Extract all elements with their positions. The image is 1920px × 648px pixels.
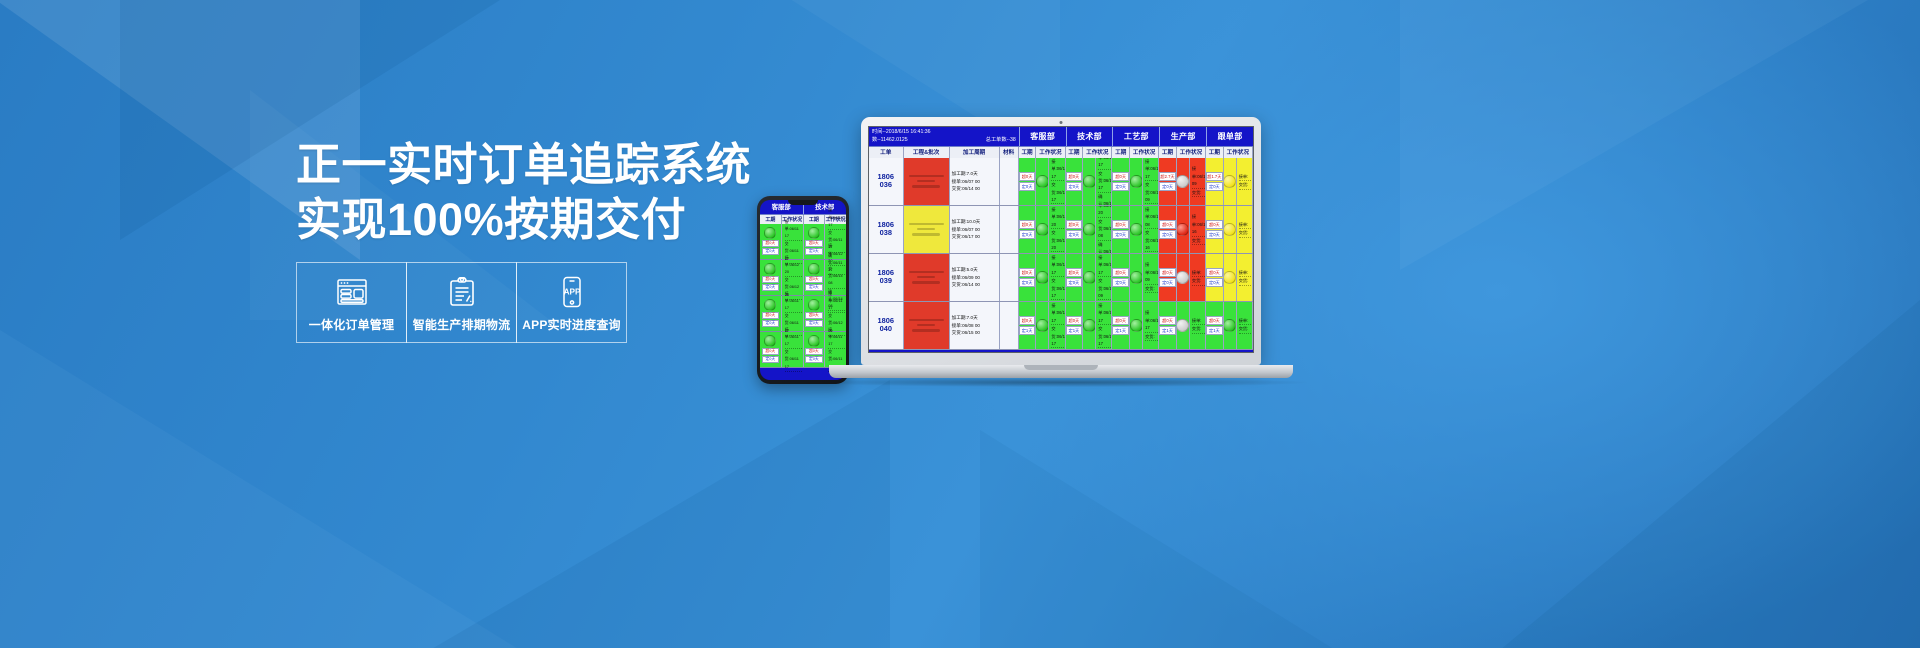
- planned-badge: 定1天: [1206, 326, 1223, 335]
- status-cell[interactable]: [1224, 302, 1237, 349]
- duration-cell: 超0天定1天: [1066, 302, 1084, 349]
- status-indicator-green: [1036, 271, 1049, 284]
- feature-item-production-schedule[interactable]: 智能生产排期物流: [406, 262, 517, 343]
- planned-badge: 定0天: [805, 320, 822, 327]
- column-header: 工期: [1159, 147, 1177, 158]
- processing-cycle-cell: 加工期:10.0天接单:06/07 00交货:06/17 00: [950, 206, 1000, 253]
- status-detail-cell: 接单:06/12 20交货:06/12 20: [1049, 206, 1065, 253]
- planned-badge: 定0天: [762, 320, 779, 327]
- status-cell[interactable]: [1177, 158, 1190, 205]
- phone-detail-cell: 接单:06/11 17交货:06/11 17: [781, 296, 803, 331]
- status-detail-cell: 接单:06/14 08交货:06/15 16: [1143, 206, 1159, 253]
- status-cell[interactable]: [1036, 206, 1049, 253]
- column-header: 工单: [869, 147, 904, 158]
- meta-total: 总工单数--38: [986, 137, 1016, 145]
- background-facet: [1500, 300, 1920, 648]
- department-header: 工艺部: [1112, 127, 1159, 146]
- material-cell: [1000, 206, 1019, 253]
- phone-col-duration: 工期: [803, 215, 825, 224]
- status-cell[interactable]: [1083, 158, 1096, 205]
- status-cell[interactable]: [1224, 206, 1237, 253]
- status-cell[interactable]: [1036, 158, 1049, 205]
- duration-cell: 超0天定0天: [1112, 254, 1130, 301]
- duration-cell: 超0天定0天: [1159, 206, 1177, 253]
- status-detail-cell: 接单:交货:: [1190, 302, 1206, 349]
- phone-detail-cell: 接单:06/12 20交货:06/12 20: [781, 260, 803, 295]
- dashboard-header: 时间--2018/6/15 16:41:36 数--11462.0125 总工单…: [869, 127, 1253, 146]
- overdue-badge: 超0天: [1019, 268, 1036, 277]
- laptop-mockup: 时间--2018/6/15 16:41:36 数--11462.0125 总工单…: [861, 117, 1325, 421]
- duration-cell: 超2.7天定0天: [1159, 158, 1177, 205]
- status-indicator-yellow: [1224, 175, 1237, 188]
- customer-project-cell: [904, 206, 950, 253]
- laptop-shadow: [815, 378, 1307, 387]
- laptop-screen[interactable]: 时间--2018/6/15 16:41:36 数--11462.0125 总工单…: [868, 126, 1254, 353]
- overdue-badge: 超0天: [1066, 220, 1083, 229]
- status-detail-cell: 接单:06/12 09交货:: [1190, 158, 1206, 205]
- processing-cycle-cell: 加工期:7.0天接单:06/08 00交货:06/15 00: [950, 302, 1000, 349]
- phone-col-duration: 工期: [760, 215, 781, 224]
- status-detail-cell: 接单:06/11 17交货:06/12 09: [1143, 158, 1159, 205]
- status-indicator-grey: [1177, 175, 1190, 188]
- overdue-badge: 超0天: [1112, 220, 1129, 229]
- duration-cell: 超0天定0天: [1206, 206, 1224, 253]
- planned-badge: 定0天: [805, 284, 822, 291]
- phone-status-cell[interactable]: 超0天定0天: [760, 260, 781, 295]
- table-row[interactable]: 1806036加工期:7.0天接单:06/07 00交货:06/14 00超0天…: [869, 158, 1253, 206]
- list-item[interactable]: 超0天定0天接单:06/11 17交货:06/11 17超0天定0天接单:06/…: [760, 332, 846, 368]
- planned-badge: 定0天: [805, 356, 822, 363]
- mobile-app-icon: APP: [560, 275, 584, 309]
- planned-badge: 定0天: [762, 284, 779, 291]
- overdue-badge: 超0天: [1159, 268, 1176, 277]
- status-indicator-green: [764, 299, 776, 311]
- planned-badge: 定0天: [1019, 182, 1036, 191]
- department-header: 技术部: [1066, 127, 1113, 146]
- feature-item-app-progress[interactable]: APP APP实时进度查询: [516, 262, 627, 343]
- status-cell[interactable]: [1177, 302, 1190, 349]
- status-indicator-green: [1036, 175, 1049, 188]
- column-header: 工期: [1066, 147, 1084, 158]
- planned-badge: 定0天: [1206, 230, 1223, 239]
- customer-project-cell: [904, 254, 950, 301]
- status-indicator-green: [1036, 223, 1049, 236]
- column-header: 材料: [1000, 147, 1019, 158]
- feature-item-order-management[interactable]: 一体化订单管理: [296, 262, 407, 343]
- status-detail-cell: 接单:交货:: [1237, 302, 1253, 349]
- customer-project-cell: [904, 302, 950, 349]
- status-indicator-green: [1224, 319, 1237, 332]
- overdue-badge: 超0天: [1112, 172, 1129, 181]
- planned-badge: 定0天: [1019, 278, 1036, 287]
- duration-cell: 超0天定0天: [1019, 254, 1037, 301]
- duration-cell: 超0天定1天: [1112, 302, 1130, 349]
- planned-badge: 定0天: [805, 248, 822, 255]
- overdue-badge: 超0天: [762, 240, 779, 247]
- status-cell[interactable]: [1130, 206, 1143, 253]
- status-detail-cell: 接单:06/15 16交货:: [1190, 206, 1206, 253]
- overdue-badge: 超0天: [1159, 316, 1176, 325]
- status-indicator-red: [1177, 223, 1190, 236]
- status-indicator-grey: [1177, 319, 1190, 332]
- overdue-badge: 超0天: [805, 348, 822, 355]
- planned-badge: 定0天: [1159, 230, 1176, 239]
- phone-table-body: 超0天定0天接单:06/11 17交货:06/11 17超0天定0天接单:06/…: [760, 224, 846, 368]
- planned-badge: 定0天: [762, 248, 779, 255]
- column-header: 工作状况: [1177, 147, 1206, 158]
- status-indicator-green: [1083, 271, 1096, 284]
- duration-cell: 超0天定0天: [1159, 254, 1177, 301]
- feature-label: 智能生产排期物流: [413, 316, 511, 333]
- status-indicator-green: [1130, 319, 1143, 332]
- order-number-cell: 1806038: [869, 206, 904, 253]
- planned-badge: 定0天: [762, 356, 779, 363]
- column-header: 工程&批次: [904, 147, 950, 158]
- material-cell: [1000, 254, 1019, 301]
- overdue-badge: 超0天: [1066, 316, 1083, 325]
- overdue-badge: 超0天: [805, 276, 822, 283]
- overdue-badge: 超0天: [1159, 220, 1176, 229]
- status-indicator-green: [1083, 175, 1096, 188]
- duration-cell: 超0天定0天: [1019, 206, 1037, 253]
- planned-badge: 定0天: [1066, 182, 1083, 191]
- status-detail-cell: 接单:06/11 17交货:06/11 17: [1096, 302, 1112, 349]
- planned-badge: 定0天: [1019, 230, 1036, 239]
- status-detail-cell: 接单:交货:: [1190, 254, 1206, 301]
- phone-status-cell[interactable]: 超0天定0天: [803, 332, 825, 367]
- planned-badge: 定1天: [1066, 326, 1083, 335]
- status-detail-cell: 接单:06/12 20交货:06/14 08确认:06/14 08: [1096, 206, 1112, 253]
- column-header: 工作状况: [1083, 147, 1112, 158]
- status-detail-cell: 接单:06/11 17交货:: [1143, 302, 1159, 349]
- overdue-badge: 超2.7天: [1159, 172, 1176, 181]
- status-cell[interactable]: [1130, 302, 1143, 349]
- status-indicator-green: [764, 227, 776, 239]
- feature-label: APP实时进度查询: [522, 316, 620, 333]
- clipboard-schedule-icon: [448, 275, 476, 309]
- status-cell[interactable]: [1177, 254, 1190, 301]
- phone-detail-cell: 接单:06/12 20交货:06/14 08确认:06/14 08: [824, 260, 846, 295]
- phone-status-cell[interactable]: 超0天定0天: [803, 224, 825, 259]
- duration-cell: 超0天定1天: [1206, 302, 1224, 349]
- column-header: 工作状况: [1130, 147, 1159, 158]
- duration-cell: 超0天定0天: [1206, 254, 1224, 301]
- processing-cycle-cell: 加工期:7.0天接单:06/07 00交货:06/14 00: [950, 158, 1000, 205]
- column-header: 工期: [1019, 147, 1037, 158]
- processing-cycle-cell: 加工期:5.0天接单:06/09 00交货:06/14 00: [950, 254, 1000, 301]
- status-detail-cell: 接单:06/11 17交货:06/12 09: [1096, 254, 1112, 301]
- status-indicator-green: [1083, 319, 1096, 332]
- material-cell: [1000, 158, 1019, 205]
- column-header: 工作状况: [1036, 147, 1065, 158]
- status-cell[interactable]: [1130, 254, 1143, 301]
- status-detail-cell: 接单:06/11 17交货:06/11 17: [1049, 254, 1065, 301]
- table-row[interactable]: 1806038加工期:10.0天接单:06/07 00交货:06/17 00超0…: [869, 206, 1253, 254]
- status-indicator-green: [808, 335, 820, 347]
- planned-badge: 定0天: [1112, 182, 1129, 191]
- status-cell[interactable]: [1083, 254, 1096, 301]
- phone-body: 客服部 技术部 工期 工作状况 工期 工作状况 超0天定0天接单:06/11 1…: [757, 196, 849, 384]
- status-indicator-green: [1036, 319, 1049, 332]
- status-cell[interactable]: [1083, 302, 1096, 349]
- planned-badge: 定1天: [1159, 326, 1176, 335]
- duration-cell: 超0天定0天: [1066, 206, 1084, 253]
- planned-badge: 定0天: [1112, 230, 1129, 239]
- overdue-badge: 超0天: [1019, 316, 1036, 325]
- column-header-row: 工单工程&批次加工周期材料工期工作状况工期工作状况工期工作状况工期工作状况工期工…: [869, 146, 1253, 158]
- phone-detail-cell: 接单:06/11 17交货:06/11 17: [781, 224, 803, 259]
- duration-cell: 超0天定1天: [1159, 302, 1177, 349]
- phone-detail-cell: 接单:06/11 17交货:06/11 17: [824, 332, 846, 367]
- duration-cell: 超0天定0天: [1019, 158, 1037, 205]
- status-detail-cell: 接单:交货:: [1237, 254, 1253, 301]
- overdue-badge: 超0天: [1206, 316, 1223, 325]
- laptop-lid: 时间--2018/6/15 16:41:36 数--11462.0125 总工单…: [861, 117, 1261, 365]
- overdue-badge: 超0天: [805, 240, 822, 247]
- phone-detail-cell: 接单:06/11 17交货:06/12 09: [824, 296, 846, 331]
- department-header: 生产部: [1159, 127, 1206, 146]
- planned-badge: 定1天: [1112, 326, 1129, 335]
- hero-banner: 正一实时订单追踪系统 实现100%按期交付 一体化订单管理: [0, 0, 1920, 648]
- phone-status-cell[interactable]: 超0天定0天: [760, 296, 781, 331]
- status-cell[interactable]: [1130, 158, 1143, 205]
- planned-badge: 定0天: [1159, 278, 1176, 287]
- status-detail-cell: 接单:交货:: [1237, 206, 1253, 253]
- app-badge-text: APP: [563, 288, 580, 297]
- department-header-row: 客服部技术部工艺部生产部跟单部: [1019, 127, 1253, 146]
- status-indicator-green: [1130, 223, 1143, 236]
- table-row[interactable]: 1806040加工期:7.0天接单:06/08 00交货:06/15 00超0天…: [869, 302, 1253, 350]
- status-indicator-green: [764, 335, 776, 347]
- status-indicator-yellow: [1224, 271, 1237, 284]
- status-cell[interactable]: [1036, 302, 1049, 349]
- status-cell[interactable]: [1083, 206, 1096, 253]
- duration-cell: 超0天定0天: [1066, 158, 1084, 205]
- feature-list: 一体化订单管理 智能生产排期物流: [296, 262, 627, 343]
- column-header: 工期: [1112, 147, 1130, 158]
- overdue-badge: 超0天: [1019, 220, 1036, 229]
- status-detail-cell: 接单:06/11 17交货:06/11 17: [1049, 302, 1065, 349]
- status-cell[interactable]: [1224, 158, 1237, 205]
- order-tracking-dashboard: 时间--2018/6/15 16:41:36 数--11462.0125 总工单…: [869, 127, 1253, 352]
- phone-notch: [788, 200, 818, 205]
- status-indicator-grey: [1177, 271, 1190, 284]
- planned-badge: 定0天: [1112, 278, 1129, 287]
- table-row[interactable]: 1806039加工期:5.0天接单:06/09 00交货:06/14 00超0天…: [869, 254, 1253, 302]
- meta-count: 数--11462.0125: [872, 137, 908, 145]
- duration-cell: 超0天定1天: [1019, 302, 1037, 349]
- dashboard-table-body: 1806036加工期:7.0天接单:06/07 00交货:06/14 00超0天…: [869, 158, 1253, 350]
- overdue-badge: 超0天: [1112, 316, 1129, 325]
- status-indicator-green: [764, 263, 776, 275]
- department-header: 跟单部: [1206, 127, 1253, 146]
- phone-detail-cell: 接单:06/11 17交货:06/11 17: [781, 332, 803, 367]
- planned-badge: 定0天: [1159, 182, 1176, 191]
- status-cell[interactable]: [1036, 254, 1049, 301]
- overdue-badge: 超0天: [1206, 268, 1223, 277]
- column-header: 工作状况: [1224, 147, 1253, 158]
- laptop-base: [829, 365, 1293, 378]
- planned-badge: 定0天: [1066, 278, 1083, 287]
- overdue-badge: 超0天: [1066, 172, 1083, 181]
- phone-status-cell[interactable]: 超0天定0天: [803, 296, 825, 331]
- overdue-badge: 超0天: [1112, 268, 1129, 277]
- background-facet: [980, 430, 1400, 648]
- status-detail-cell: 接单:06/12 09交货:: [1143, 254, 1159, 301]
- order-number-cell: 1806036: [869, 158, 904, 205]
- status-indicator-green: [808, 299, 820, 311]
- department-header: 客服部: [1019, 127, 1066, 146]
- phone-status-cell[interactable]: 超0天定0天: [760, 332, 781, 367]
- overdue-badge: 超0天: [805, 312, 822, 319]
- material-cell: [1000, 302, 1019, 349]
- feature-label: 一体化订单管理: [309, 316, 394, 333]
- overdue-badge: 超0天: [1066, 268, 1083, 277]
- order-number-cell: 1806039: [869, 254, 904, 301]
- customer-project-cell: [904, 158, 950, 205]
- planned-badge: 定0天: [1206, 278, 1223, 287]
- phone-status-cell[interactable]: 超0天定0天: [803, 260, 825, 295]
- phone-status-cell[interactable]: 超0天定0天: [760, 224, 781, 259]
- status-indicator-green: [1130, 271, 1143, 284]
- status-detail-cell: 接单:06/11 17交货:06/11 17确认:06/11 17: [1096, 158, 1112, 205]
- planned-badge: 定0天: [1206, 182, 1223, 191]
- status-cell[interactable]: [1224, 254, 1237, 301]
- planned-badge: 定1天: [1019, 326, 1036, 335]
- background-facet: [430, 380, 890, 648]
- meta-time: 时间--2018/6/15 16:41:36: [872, 129, 931, 137]
- phone-screen[interactable]: 客服部 技术部 工期 工作状况 工期 工作状况 超0天定0天接单:06/11 1…: [760, 200, 846, 380]
- column-header: 工期: [1206, 147, 1224, 158]
- order-number-cell: 1806040: [869, 302, 904, 349]
- phone-mockup: 客服部 技术部 工期 工作状况 工期 工作状况 超0天定0天接单:06/11 1…: [757, 196, 849, 384]
- status-indicator-green: [1083, 223, 1096, 236]
- status-detail-cell: 接单:交货:: [1237, 158, 1253, 205]
- overdue-badge: 超0天: [762, 276, 779, 283]
- dashboard-meta: 时间--2018/6/15 16:41:36 数--11462.0125 总工单…: [869, 127, 1019, 146]
- column-header: 加工周期: [950, 147, 1000, 158]
- status-indicator-green: [1130, 175, 1143, 188]
- overdue-badge: 超1.7天: [1206, 172, 1223, 181]
- webcam-icon: [1060, 121, 1063, 124]
- duration-cell: 超0天定0天: [1066, 254, 1084, 301]
- duration-cell: 超0天定0天: [1112, 206, 1130, 253]
- status-indicator-green: [808, 227, 820, 239]
- duration-cell: 超1.7天定0天: [1206, 158, 1224, 205]
- overdue-badge: 超0天: [762, 312, 779, 319]
- status-indicator-yellow: [1224, 223, 1237, 236]
- status-cell[interactable]: [1177, 206, 1190, 253]
- overdue-badge: 超0天: [1206, 220, 1223, 229]
- duration-cell: 超0天定0天: [1112, 158, 1130, 205]
- status-detail-cell: 接单:06/11 17交货:06/11 17: [1049, 158, 1065, 205]
- overdue-badge: 超0天: [1019, 172, 1036, 181]
- planned-badge: 定0天: [1066, 230, 1083, 239]
- background-facet: [1400, 0, 1920, 270]
- status-indicator-green: [808, 263, 820, 275]
- overdue-badge: 超0天: [762, 348, 779, 355]
- dashboard-window-icon: [336, 275, 368, 309]
